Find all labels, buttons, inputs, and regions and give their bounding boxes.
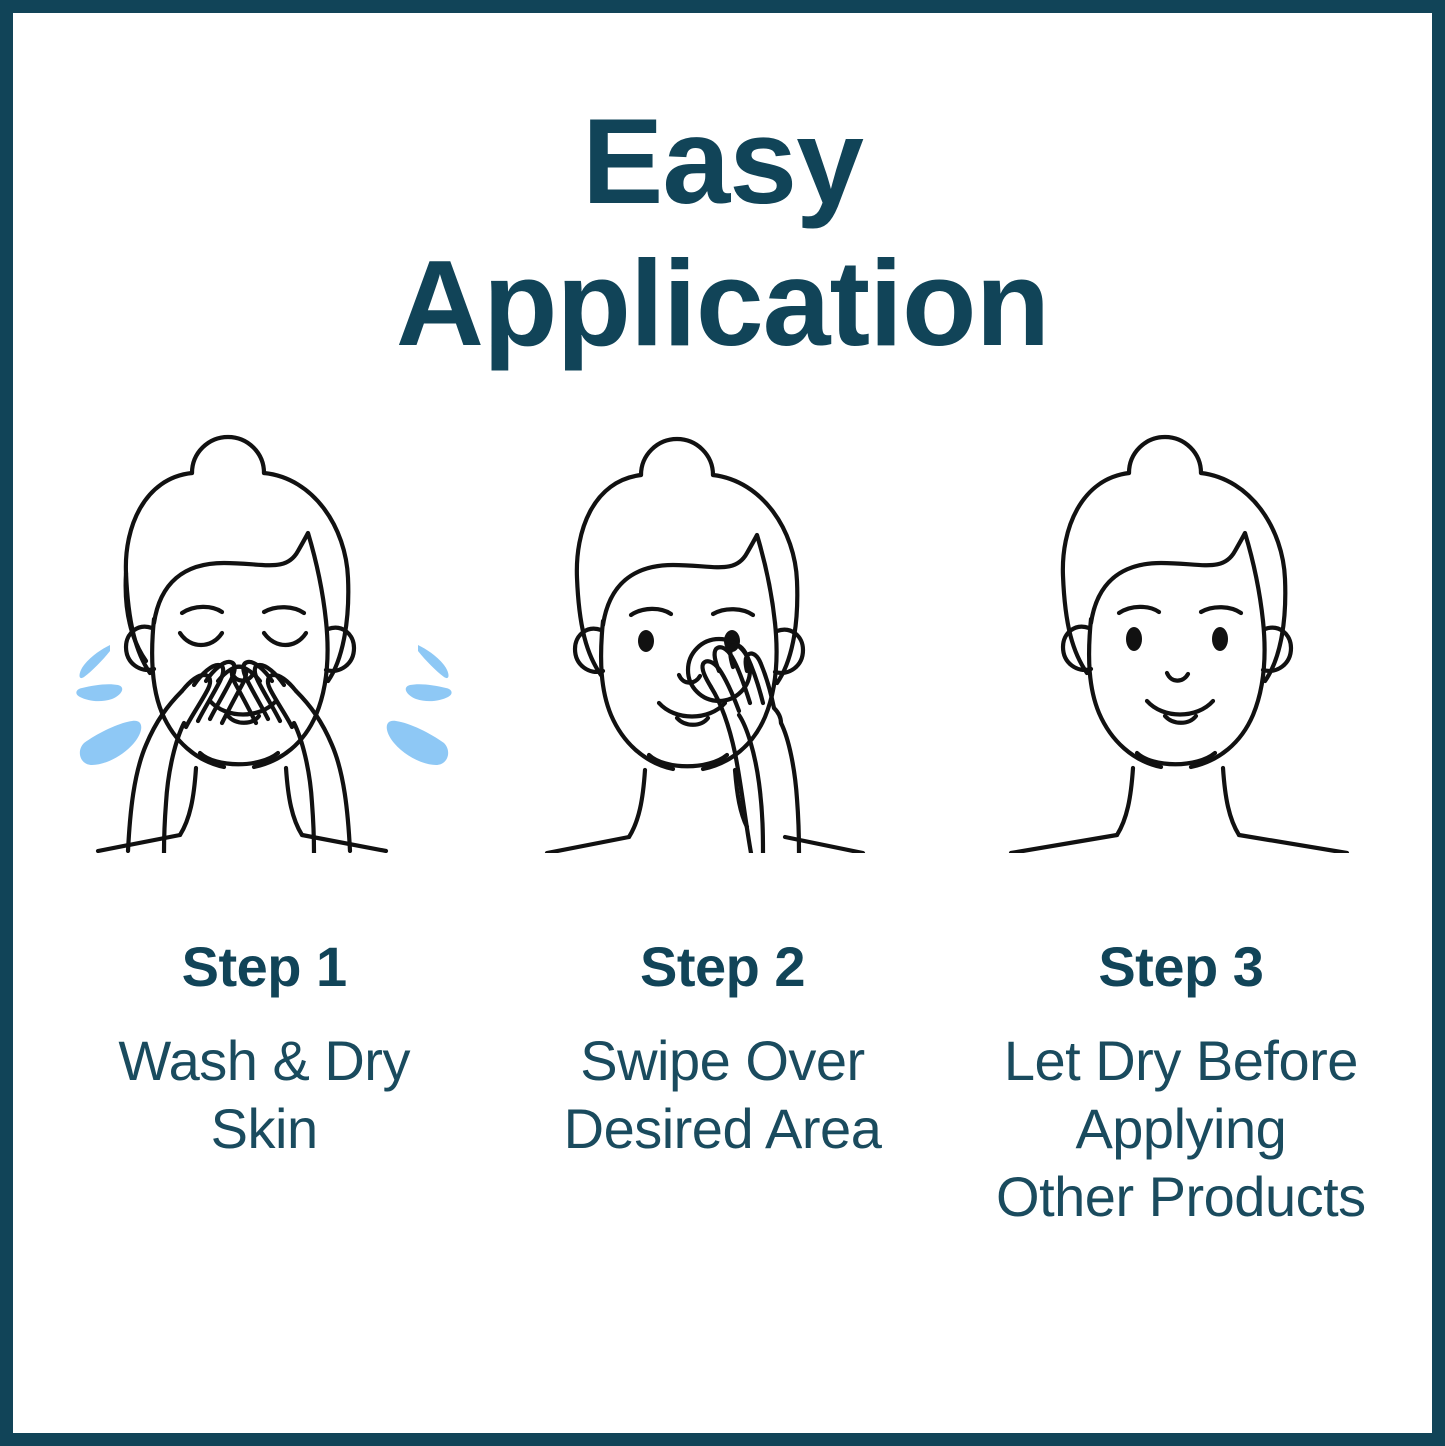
step-2-title: Step 2 <box>640 938 805 997</box>
step-3-description: Let Dry Before Applying Other Products <box>996 1027 1366 1232</box>
step-1-title: Step 1 <box>182 938 347 997</box>
step-1-description: Wash & Dry Skin <box>118 1027 410 1164</box>
woman-face-clear-icon <box>981 423 1381 853</box>
infographic-frame: Easy Application <box>0 0 1445 1446</box>
step-3-title: Step 3 <box>1098 938 1263 997</box>
page-title: Easy Application <box>13 91 1432 374</box>
step-column-1: Step 1 Wash & Dry Skin <box>35 423 493 1163</box>
page-title-line-1: Easy <box>13 91 1432 233</box>
infographic-canvas: Easy Application <box>13 13 1432 1433</box>
water-splash-right <box>387 645 452 765</box>
steps-row: Step 1 Wash & Dry Skin <box>13 423 1432 1232</box>
woman-applying-cotton-pad-icon <box>523 423 923 853</box>
page-title-line-2: Application <box>13 233 1432 375</box>
woman-washing-face-icon <box>64 423 464 853</box>
step-column-2: Step 2 Swipe Over Desired Area <box>493 423 951 1163</box>
step-2-description: Swipe Over Desired Area <box>564 1027 882 1164</box>
step-column-3: Step 3 Let Dry Before Applying Other Pro… <box>952 423 1410 1232</box>
